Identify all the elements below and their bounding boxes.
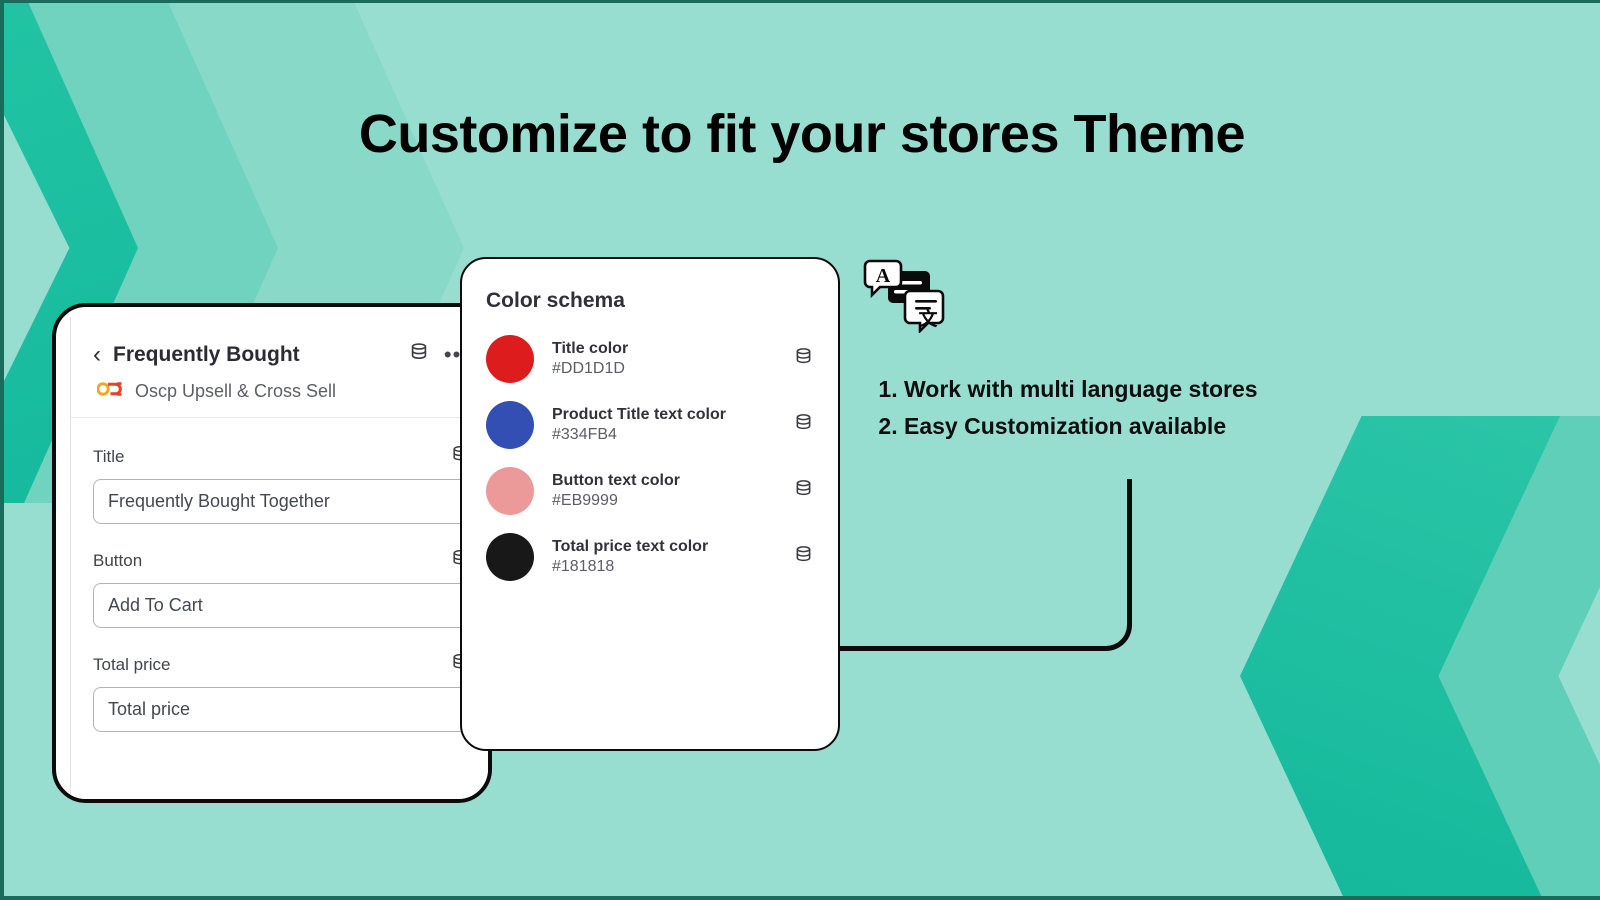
app-name: Oscp Upsell & Cross Sell (135, 381, 336, 402)
translate-icon: A 文 (862, 257, 946, 333)
background-chevron-bottom-right-light (1360, 416, 1600, 900)
color-row-product-title-text-color[interactable]: Product Title text color #334FB4 (486, 401, 814, 449)
color-name: Title color (552, 340, 628, 357)
database-icon[interactable] (793, 544, 814, 570)
color-swatch[interactable] (486, 335, 534, 383)
color-row-button-text-color[interactable]: Button text color #EB9999 (486, 467, 814, 515)
color-text-block: Total price text color #181818 (552, 537, 775, 578)
field-title-label: Title (93, 447, 125, 467)
database-icon[interactable] (793, 478, 814, 504)
page-title: Customize to fit your stores Theme (4, 103, 1600, 165)
color-hex: #334FB4 (552, 425, 775, 446)
color-swatch[interactable] (486, 467, 534, 515)
database-icon[interactable] (408, 341, 430, 368)
settings-card-inner: ‹ Frequently Bought ••• (70, 317, 492, 803)
color-swatch[interactable] (486, 533, 534, 581)
color-text-block: Button text color #EB9999 (552, 471, 775, 512)
color-swatch[interactable] (486, 401, 534, 449)
field-total-price-label: Total price (93, 655, 170, 675)
color-hex: #DD1D1D (552, 359, 775, 380)
list-item: Work with multi language stores (904, 371, 1390, 408)
settings-card: ‹ Frequently Bought ••• (52, 303, 492, 803)
poster-canvas: Customize to fit your stores Theme ‹ Fre… (0, 0, 1600, 900)
field-total-price-label-row: Total price (93, 652, 470, 677)
color-hex: #EB9999 (552, 491, 775, 512)
connector-line (840, 479, 1132, 651)
color-row-title-color[interactable]: Title color #DD1D1D (486, 335, 814, 383)
field-title: Title (93, 444, 470, 524)
color-schema-card: Color schema Title color #DD1D1D Product… (460, 257, 840, 751)
settings-card-body: Title Button (71, 418, 492, 732)
color-name: Product Title text color (552, 406, 726, 423)
button-input[interactable] (93, 583, 470, 628)
title-input[interactable] (93, 479, 470, 524)
color-text-block: Title color #DD1D1D (552, 339, 775, 380)
settings-header-row: ‹ Frequently Bought ••• (93, 341, 470, 368)
oscp-logo-icon (97, 380, 123, 403)
feature-list: Work with multi language stores Easy Cus… (870, 371, 1390, 446)
color-name: Total price text color (552, 538, 708, 555)
background-chevron-bottom-right-dark (1240, 416, 1560, 900)
color-hex: #181818 (552, 557, 775, 578)
field-button: Button (93, 548, 470, 628)
field-button-label-row: Button (93, 548, 470, 573)
chevron-left-icon[interactable]: ‹ (93, 343, 101, 367)
svg-text:文: 文 (918, 307, 938, 330)
field-total-price: Total price (93, 652, 470, 732)
list-item: Easy Customization available (904, 408, 1390, 445)
color-schema-title: Color schema (486, 289, 814, 313)
database-icon[interactable] (793, 346, 814, 372)
field-title-label-row: Title (93, 444, 470, 469)
app-identity-row: Oscp Upsell & Cross Sell (93, 380, 470, 403)
color-name: Button text color (552, 472, 680, 489)
settings-title: Frequently Bought (113, 343, 396, 367)
database-icon[interactable] (793, 412, 814, 438)
color-row-total-price-text-color[interactable]: Total price text color #181818 (486, 533, 814, 581)
total-price-input[interactable] (93, 687, 470, 732)
field-button-label: Button (93, 551, 142, 571)
svg-text:A: A (876, 265, 891, 287)
color-text-block: Product Title text color #334FB4 (552, 405, 775, 446)
settings-card-header: ‹ Frequently Bought ••• (71, 317, 492, 418)
